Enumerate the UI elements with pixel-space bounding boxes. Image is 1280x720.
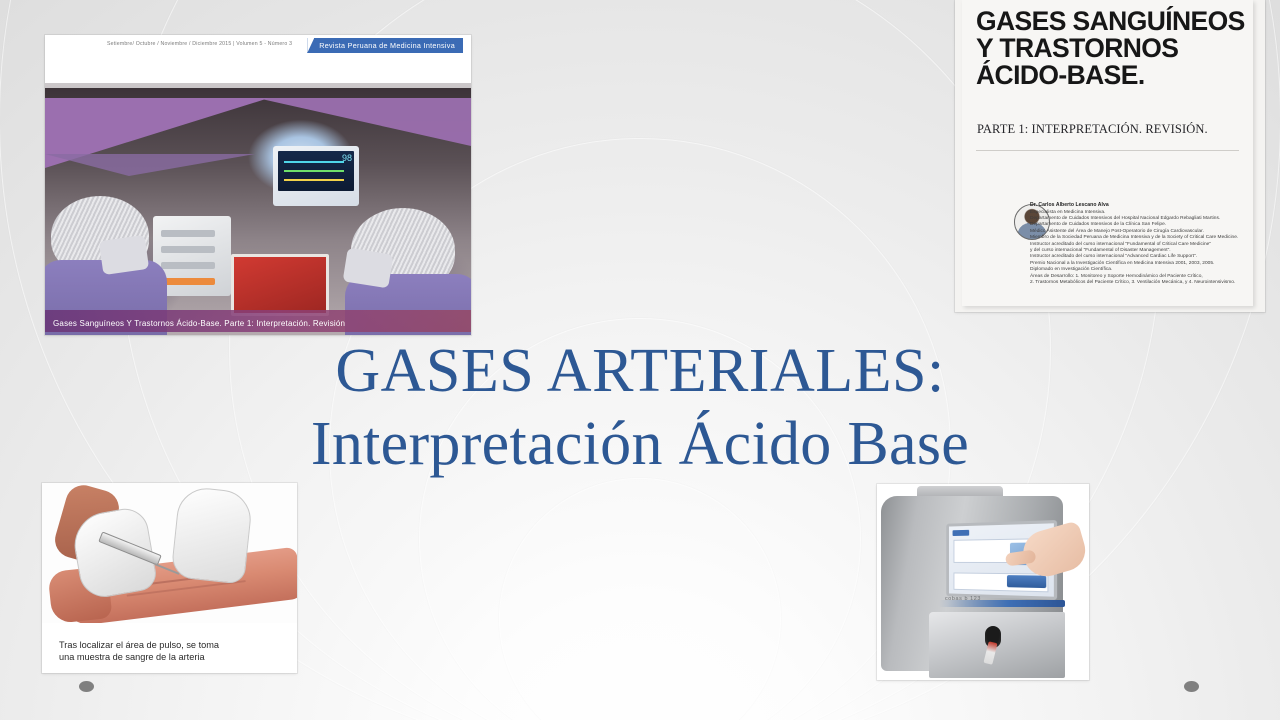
blood-gas-analyzer-image[interactable]: cobas b 123	[877, 484, 1089, 680]
arterial-puncture-image[interactable]: Tras localizar el área de pulso, se toma…	[42, 483, 297, 673]
puncture-caption-box: Tras localizar el área de pulso, se toma…	[42, 623, 297, 673]
screen-title-bar	[953, 530, 970, 536]
face-mask-left	[99, 235, 149, 275]
slide-title-line-2: Interpretación Ácido Base	[0, 406, 1280, 482]
article-title: GASES SANGUÍNEOS Y TRASTORNOS ÁCIDO-BASE…	[976, 8, 1247, 89]
cover-photo: 98 Gases Sanguíneos Y Trastornos Ácido-B…	[45, 58, 471, 335]
analyzer-body: cobas b 123	[881, 496, 1063, 671]
magazine-cover-image[interactable]: Setiembre/ Octubre / Noviembre / Diciemb…	[45, 35, 471, 335]
gloved-hand-right	[170, 485, 253, 584]
screen-confirm-button	[1007, 575, 1046, 588]
decorative-dot-right	[1184, 681, 1199, 692]
cover-journal-banner: Revista Peruana de Medicina Intensiva	[307, 38, 463, 53]
presentation-slide: Setiembre/ Octubre / Noviembre / Diciemb…	[0, 0, 1280, 720]
bio-line: 2. Trastornos Metabólicos del Paciente C…	[1030, 280, 1245, 286]
patient-monitor-icon: 98	[273, 146, 359, 206]
article-first-page-image[interactable]: GASES SANGUÍNEOS Y TRASTORNOS ÁCIDO-BASE…	[955, 0, 1265, 312]
background-arc	[499, 478, 781, 720]
puncture-illustration	[42, 483, 297, 623]
bio-line: Miembro de la Sociedad Peruana de Medici…	[1030, 235, 1245, 241]
slide-title-block: GASES ARTERIALES: Interpretación Ácido B…	[0, 336, 1280, 482]
cover-caption-text: Gases Sanguíneos Y Trastornos Ácido-Base…	[53, 319, 345, 328]
article-paper: GASES SANGUÍNEOS Y TRASTORNOS ÁCIDO-BASE…	[962, 0, 1253, 306]
face-mask-right	[343, 248, 394, 289]
article-subtitle: PARTE 1: INTERPRETACIÓN. REVISIÓN.	[977, 122, 1208, 137]
decorative-dot-left	[79, 681, 94, 692]
article-divider	[976, 150, 1239, 151]
puncture-caption: Tras localizar el área de pulso, se toma…	[59, 639, 291, 663]
author-bio-block: Dr. Carlos Alberto Lescano Alva Especial…	[1030, 202, 1245, 286]
author-name: Dr. Carlos Alberto Lescano Alva	[1030, 202, 1245, 208]
puncture-caption-line-1: Tras localizar el área de pulso, se toma	[59, 639, 291, 651]
cover-issue-line: Setiembre/ Octubre / Noviembre / Diciemb…	[107, 41, 292, 47]
red-equipment-box	[231, 254, 329, 316]
analyzer-model-label: cobas b 123	[945, 596, 981, 602]
puncture-caption-line-2: una muestra de sangre de la arteria	[59, 651, 291, 663]
monitor-reading: 98	[342, 153, 352, 163]
slide-title-line-1: GASES ARTERIALES:	[0, 336, 1280, 406]
